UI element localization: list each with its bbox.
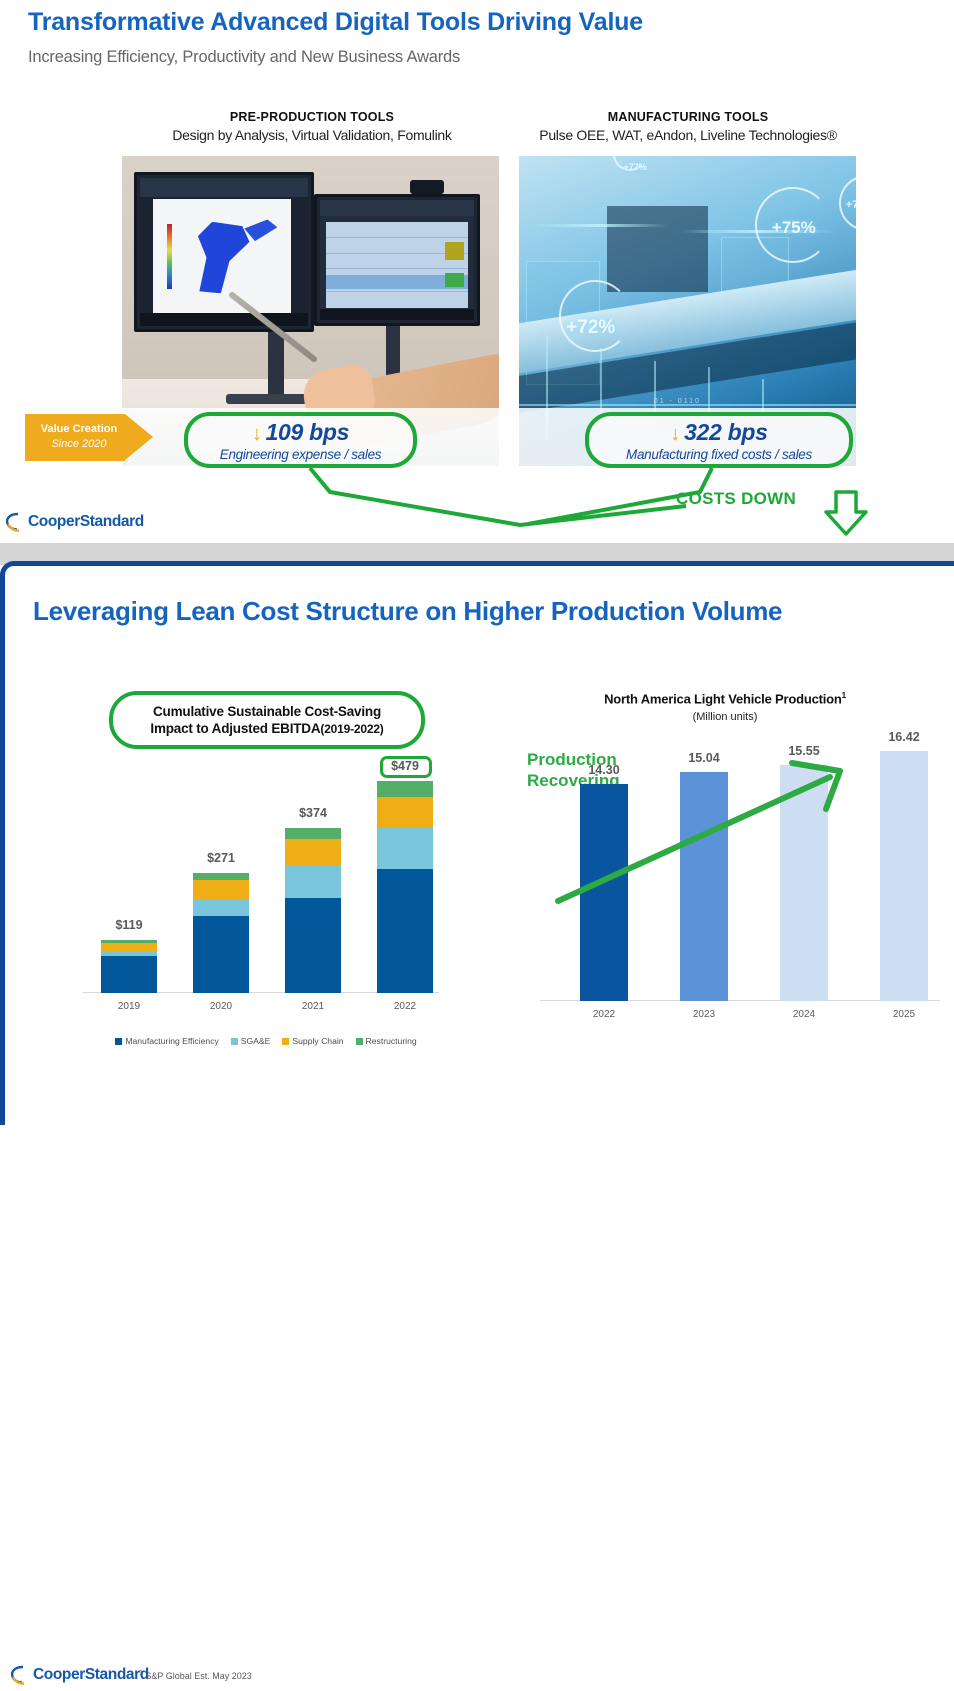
- chart-na-light-vehicle-production: North America Light Vehicle Production1 …: [510, 691, 940, 1111]
- badge-chevron-tip: [125, 414, 153, 460]
- x-axis-label-2025: 2025: [869, 1009, 939, 1020]
- legend-item-supply-chain: Supply Chain: [282, 1036, 343, 1046]
- logo-text-top: CooperStandard: [28, 513, 144, 531]
- cad-ribbon: [140, 178, 308, 197]
- bar-segment-supply-chain-2021: [285, 839, 341, 866]
- legend-swatch-icon: [356, 1038, 363, 1045]
- bar-segment-restructuring-2021: [285, 828, 341, 839]
- right-chart-plot: 14.30202215.04202315.55202416.422025: [540, 735, 940, 1001]
- stacked-bar-2021: [285, 828, 341, 993]
- callout-manufacturing-fixed-costs: ↓322 bps Manufacturing fixed costs / sal…: [585, 412, 853, 468]
- callout-left-value: 109 bps: [266, 419, 350, 445]
- footnote-text: S&P Global Est. May 2023: [145, 1671, 251, 1681]
- legend-item-sga-e: SGA&E: [231, 1036, 271, 1046]
- hud-label-72: +72%: [566, 317, 615, 339]
- bar-segment-manufacturing-efficiency-2022: [377, 869, 433, 993]
- left-chart-title-line2: Impact to Adjusted EBITDA: [150, 721, 320, 736]
- legend-swatch-icon: [282, 1038, 289, 1045]
- right-chart-subtitle: (Million units): [510, 711, 940, 723]
- sheet-taskbar: [320, 309, 474, 320]
- light-beam-1: [532, 224, 667, 227]
- callout-left-value-row: ↓109 bps: [252, 419, 349, 446]
- slide-lean-cost-structure: Leveraging Lean Cost Structure on Higher…: [0, 561, 954, 1125]
- stacked-bar-2019: [101, 940, 157, 993]
- bar-segment-sga-e-2022: [377, 828, 433, 870]
- bar-total-label-2021: $374: [278, 806, 348, 820]
- footnote-marker: 1: [139, 1670, 143, 1677]
- slide1-title: Transformative Advanced Digital Tools Dr…: [28, 8, 643, 37]
- callout-right-metric: Manufacturing fixed costs / sales: [626, 447, 812, 462]
- callout-right-value: 322 bps: [684, 419, 768, 445]
- bar-segment-supply-chain-2022: [377, 797, 433, 828]
- monitor-cad: [134, 172, 314, 332]
- bar-2024: [780, 765, 828, 1001]
- webcam: [410, 180, 444, 194]
- bar-value-label-2025: 16.42: [869, 730, 939, 744]
- x-axis-label-2024: 2024: [769, 1009, 839, 1020]
- highlight-box-total-2022: [380, 756, 432, 778]
- legend-label: Restructuring: [366, 1036, 417, 1046]
- monitor-spreadsheet: [314, 194, 480, 326]
- callout-engineering-expense: ↓109 bps Engineering expense / sales: [184, 412, 417, 468]
- cad-part-mesh-secondary: [244, 219, 277, 249]
- logo-cooper-standard-top: CooperStandard: [4, 511, 144, 533]
- bar-segment-sga-e-2021: [285, 866, 341, 899]
- manufacturing-tools: Pulse OEE, WAT, eAndon, Liveline Technol…: [498, 127, 878, 143]
- bar-value-label-2023: 15.04: [669, 751, 739, 765]
- bar-segment-supply-chain-2019: [101, 943, 157, 951]
- chart-cumulative-cost-saving: Cumulative Sustainable Cost-Saving Impac…: [77, 691, 447, 1111]
- legend-item-restructuring: Restructuring: [356, 1036, 417, 1046]
- bar-segment-sga-e-2020: [193, 900, 249, 917]
- bar-total-label-2019: $119: [94, 918, 164, 932]
- hud-code-text: 01 - 0110: [654, 398, 701, 405]
- legend-label: Manufacturing Efficiency: [125, 1036, 218, 1046]
- sheet-swatch-yellow: [445, 242, 463, 259]
- left-chart-plot: $1192019$2712020$3742021$4792022: [77, 763, 447, 993]
- legend-swatch-icon: [115, 1038, 122, 1045]
- column-heading-preproduction: PRE-PRODUCTION TOOLS Design by Analysis,…: [122, 110, 502, 143]
- bar-segment-supply-chain-2020: [193, 880, 249, 900]
- monitor-stand-left: [268, 332, 284, 398]
- cad-canvas: [153, 199, 291, 314]
- x-axis-label-2022: 2022: [569, 1009, 639, 1020]
- legend-item-manufacturing-efficiency: Manufacturing Efficiency: [115, 1036, 218, 1046]
- slide1-subtitle: Increasing Efficiency, Productivity and …: [28, 48, 460, 67]
- footnote: 1 S&P Global Est. May 2023: [139, 1670, 252, 1681]
- preproduction-heading: PRE-PRODUCTION TOOLS: [122, 110, 502, 124]
- column-heading-manufacturing: MANUFACTURING TOOLS Pulse OEE, WAT, eAnd…: [498, 110, 878, 143]
- left-chart-legend: Manufacturing EfficiencySGA&ESupply Chai…: [85, 1036, 447, 1046]
- legend-swatch-icon: [231, 1038, 238, 1045]
- hud-label-77: +77%: [623, 162, 646, 172]
- value-creation-badge: Value Creation Since 2020: [25, 414, 155, 461]
- sheet-swatch-green: [445, 273, 463, 287]
- cad-taskbar: [140, 313, 308, 326]
- callout-left-metric: Engineering expense / sales: [220, 447, 382, 462]
- callout-right-value-row: ↓322 bps: [670, 419, 767, 446]
- hud-label-78: +78%: [846, 199, 856, 211]
- bar-2023: [680, 772, 728, 1001]
- right-chart-title-text: North America Light Vehicle Production: [604, 691, 842, 706]
- factory-machine-dark: [607, 206, 708, 293]
- cooper-standard-swoosh-icon: [9, 1664, 31, 1686]
- bar-segment-manufacturing-efficiency-2021: [285, 898, 341, 993]
- logo-cooper-standard-bottom: CooperStandard: [9, 1664, 149, 1686]
- manufacturing-heading: MANUFACTURING TOOLS: [498, 110, 878, 124]
- right-chart-title: North America Light Vehicle Production1: [510, 691, 940, 706]
- left-chart-title-line2-wrap: Impact to Adjusted EBITDA(2019-2022): [150, 721, 383, 736]
- cad-color-scale: [167, 224, 172, 289]
- bar-segment-restructuring-2022: [377, 781, 433, 796]
- hud-ring-72: [559, 280, 631, 352]
- left-chart-title-line1: Cumulative Sustainable Cost-Saving: [153, 704, 381, 719]
- down-arrow-icon: ↓: [670, 423, 680, 445]
- slide2-title: Leveraging Lean Cost Structure on Higher…: [33, 596, 782, 627]
- costs-down-label: COSTS DOWN: [676, 489, 796, 509]
- badge-line2: Since 2020: [33, 438, 125, 450]
- bar-segment-manufacturing-efficiency-2019: [101, 956, 157, 993]
- bar-value-label-2022: 14.30: [569, 763, 639, 777]
- left-chart-title-years: (2019-2022): [320, 722, 383, 736]
- bar-2025: [880, 751, 928, 1001]
- preproduction-tools: Design by Analysis, Virtual Validation, …: [122, 127, 502, 143]
- stacked-bar-2020: [193, 873, 249, 993]
- sheet-ribbon: [320, 200, 474, 216]
- down-arrow-icon: ↓: [252, 423, 262, 445]
- legend-label: SGA&E: [241, 1036, 271, 1046]
- x-axis-label-2022: 2022: [370, 1001, 440, 1012]
- cooper-standard-swoosh-icon: [4, 511, 26, 533]
- right-chart-title-superscript: 1: [842, 691, 846, 700]
- bar-total-label-2020: $271: [186, 851, 256, 865]
- bar-segment-restructuring-2020: [193, 873, 249, 880]
- bar-2022: [580, 784, 628, 1001]
- x-axis-label-2019: 2019: [94, 1001, 164, 1012]
- x-axis-label-2020: 2020: [186, 1001, 256, 1012]
- badge-line1: Value Creation: [33, 423, 125, 435]
- sheet-grid: [326, 222, 468, 308]
- slide-digital-tools: Transformative Advanced Digital Tools Dr…: [0, 0, 954, 545]
- stacked-bar-2022: [377, 781, 433, 993]
- hud-label-75: +75%: [772, 218, 816, 238]
- x-axis-label-2021: 2021: [278, 1001, 348, 1012]
- logo-text-bottom: CooperStandard: [33, 1666, 149, 1684]
- legend-label: Supply Chain: [292, 1036, 343, 1046]
- left-chart-title-box: Cumulative Sustainable Cost-Saving Impac…: [109, 691, 425, 749]
- bar-segment-manufacturing-efficiency-2020: [193, 916, 249, 993]
- bar-value-label-2024: 15.55: [769, 744, 839, 758]
- x-axis-label-2023: 2023: [669, 1009, 739, 1020]
